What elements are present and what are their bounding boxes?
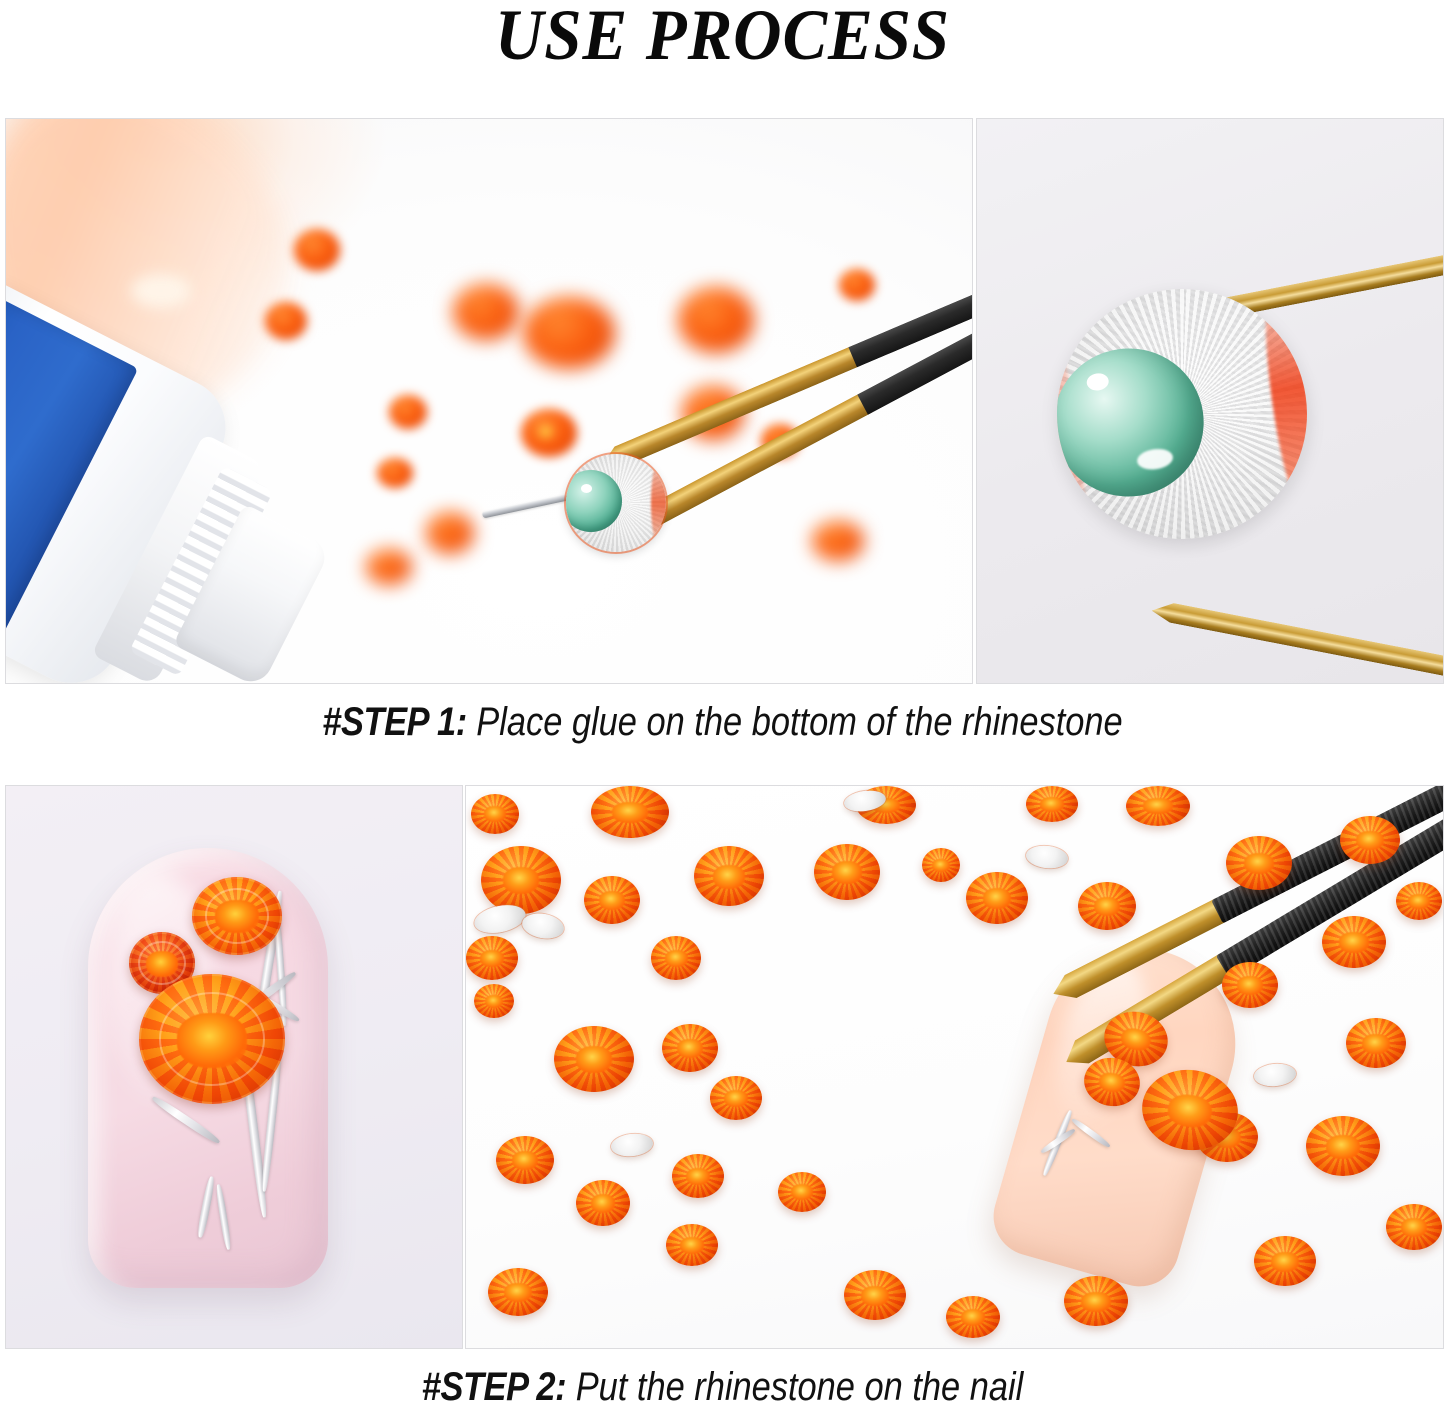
rhinestone: [1126, 786, 1190, 826]
rhinestone: [1064, 1276, 1128, 1326]
rhinestone: [474, 984, 514, 1018]
rhinestone: [1222, 962, 1278, 1008]
droplet-highlight-2: [1136, 446, 1174, 471]
rhinestone: [1026, 786, 1078, 822]
rhinestone: [966, 872, 1028, 924]
rhinestone-with-glue: [566, 454, 666, 552]
rhinestone-back: [472, 901, 528, 937]
rhinestone-orange-edge: [651, 460, 666, 546]
rhinestone: [694, 846, 764, 906]
blurred-rhinestone: [366, 549, 412, 585]
blurred-rhinestone: [294, 229, 340, 271]
rhinestone: [584, 876, 640, 924]
rhinestone: [1396, 882, 1442, 920]
droplet-highlight: [1086, 372, 1110, 392]
rhinestone: [1306, 1116, 1380, 1176]
glue-applicator-photo: R: [5, 118, 973, 684]
step-1-caption: #STEP 1: Place glue on the bottom of the…: [101, 700, 1344, 745]
step-2-caption: #STEP 2: Put the rhinestone on the nail: [101, 1365, 1344, 1410]
rhinestone: [1340, 816, 1400, 864]
photo-scene-scatter: [466, 786, 1443, 1348]
rhinestone-back: [520, 911, 566, 942]
rhinestone: [466, 936, 518, 980]
tweezer-tip-lower: [1150, 599, 1444, 684]
photo-scene-macro: [977, 119, 1443, 683]
infographic-page: USE PROCESS: [0, 0, 1445, 1412]
blurred-rhinestone: [523, 297, 615, 369]
rhinestone: [778, 1172, 826, 1212]
rhinestone: [844, 1270, 906, 1320]
blurred-rhinestone: [521, 409, 577, 457]
step-1-image-row: R: [0, 118, 1445, 684]
nail-rhinestone-large: [139, 974, 285, 1104]
step-2-text: Put the rhinestone on the nail: [566, 1365, 1023, 1409]
rhinestone: [554, 1026, 634, 1092]
blurred-rhinestone: [389, 395, 427, 429]
rhinestone: [576, 1180, 630, 1226]
rhinestone: [710, 1076, 762, 1120]
rhinestone: [814, 844, 880, 900]
nail-highlight: [131, 274, 191, 308]
rhinestone-macro-photo: [976, 118, 1444, 684]
rhinestone: [1078, 882, 1136, 930]
rhinestone: [1226, 836, 1292, 890]
rhinestone: [666, 1224, 718, 1266]
blurred-rhinestone: [839, 269, 875, 301]
step-2-label: #STEP 2:: [422, 1365, 566, 1409]
rhinestone: [496, 1136, 554, 1184]
blurred-rhinestone: [377, 458, 413, 488]
blurred-rhinestone: [678, 287, 754, 353]
step-2-image-row: [0, 785, 1445, 1349]
rhinestone-back: [1025, 844, 1069, 870]
rhinestone: [651, 936, 701, 980]
rhinestone: [471, 794, 519, 834]
rhinestone: [1346, 1018, 1406, 1068]
rhinestone: [922, 848, 960, 882]
blurred-rhinestone: [812, 521, 864, 561]
rhinestone: [591, 786, 669, 838]
rhinestone-back: [1253, 1062, 1297, 1088]
photo-scene-glue: R: [6, 119, 972, 683]
tweezer-gold-tip: [602, 345, 862, 472]
page-title: USE PROCESS: [51, 0, 1395, 74]
rhinestone: [1254, 1236, 1316, 1286]
rhinestone: [488, 1268, 548, 1316]
step-1-label: #STEP 1:: [322, 700, 466, 744]
rhinestone: [662, 1024, 718, 1072]
blurred-rhinestone: [265, 302, 307, 340]
rhinestone: [1322, 916, 1386, 968]
rhinestone: [946, 1296, 1000, 1338]
rhinestone-sparkle: [540, 427, 552, 437]
applying-rhinestone-photo: [465, 785, 1444, 1349]
rhinestone: [672, 1154, 724, 1198]
photo-scene-nail: [6, 786, 462, 1348]
finished-nail-photo: [5, 785, 463, 1349]
glue-droplet: [566, 470, 622, 532]
nail-rhinestone-top: [192, 877, 282, 955]
rhinestone-flat-back: [1041, 273, 1323, 555]
step-1-text: Place glue on the bottom of the rhinesto…: [467, 700, 1123, 744]
blurred-rhinestone: [453, 284, 519, 340]
rhinestone: [481, 846, 561, 914]
blurred-rhinestone: [426, 512, 474, 554]
rhinestone-back: [610, 1132, 654, 1158]
rhinestone: [1386, 1204, 1442, 1250]
